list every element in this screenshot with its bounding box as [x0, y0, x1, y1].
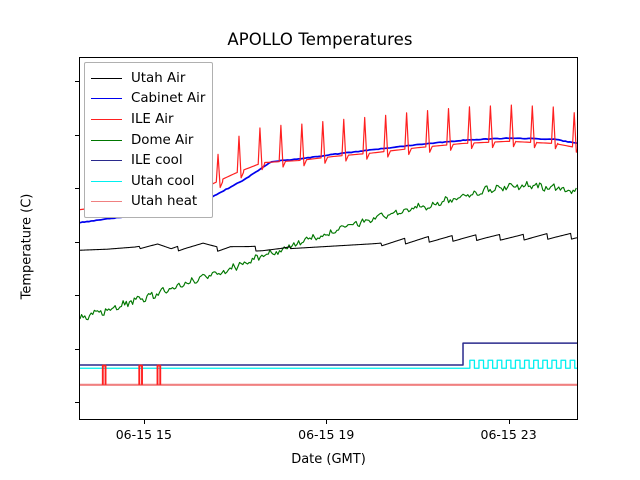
legend-label: ILE Air [131, 112, 174, 127]
legend-color-swatch [91, 140, 122, 141]
legend-label: Utah cool [131, 174, 194, 189]
legend-item: ILE Air [91, 109, 205, 130]
chart-title: APOLLO Temperatures [0, 30, 640, 49]
matplotlib-figure: APOLLO Temperatures Temperature (C) Date… [0, 0, 640, 480]
legend-label: Utah Air [131, 71, 185, 86]
legend-color-swatch [91, 160, 122, 161]
x-tick-mark [144, 420, 145, 424]
chart-legend: Utah AirCabinet AirILE AirDome AirILE co… [84, 62, 213, 218]
legend-item: Utah Air [91, 68, 205, 89]
legend-label: ILE cool [131, 153, 183, 168]
legend-label: Utah heat [131, 194, 197, 209]
legend-item: Dome Air [91, 130, 205, 151]
legend-color-swatch [91, 78, 122, 79]
legend-color-swatch [91, 201, 122, 202]
series-utah-air [80, 233, 577, 251]
y-axis-label: Temperature (C) [20, 117, 35, 377]
legend-item: Utah cool [91, 171, 205, 192]
x-tick-label: 06-15 23 [480, 427, 536, 442]
legend-item: Utah heat [91, 192, 205, 213]
legend-label: Cabinet Air [131, 91, 205, 106]
x-axis-label: Date (GMT) [79, 452, 578, 467]
legend-label: Dome Air [131, 133, 193, 148]
series-ile-cool [80, 343, 577, 365]
x-tick-label: 06-15 15 [116, 427, 172, 442]
legend-item: Cabinet Air [91, 89, 205, 110]
legend-color-swatch [91, 181, 122, 182]
x-tick-mark [509, 420, 510, 424]
legend-color-swatch [91, 119, 122, 120]
legend-item: ILE cool [91, 150, 205, 171]
x-tick-mark [326, 420, 327, 424]
series-utah-cool [80, 360, 577, 368]
x-tick-label: 06-15 19 [298, 427, 354, 442]
legend-color-swatch [91, 98, 122, 99]
